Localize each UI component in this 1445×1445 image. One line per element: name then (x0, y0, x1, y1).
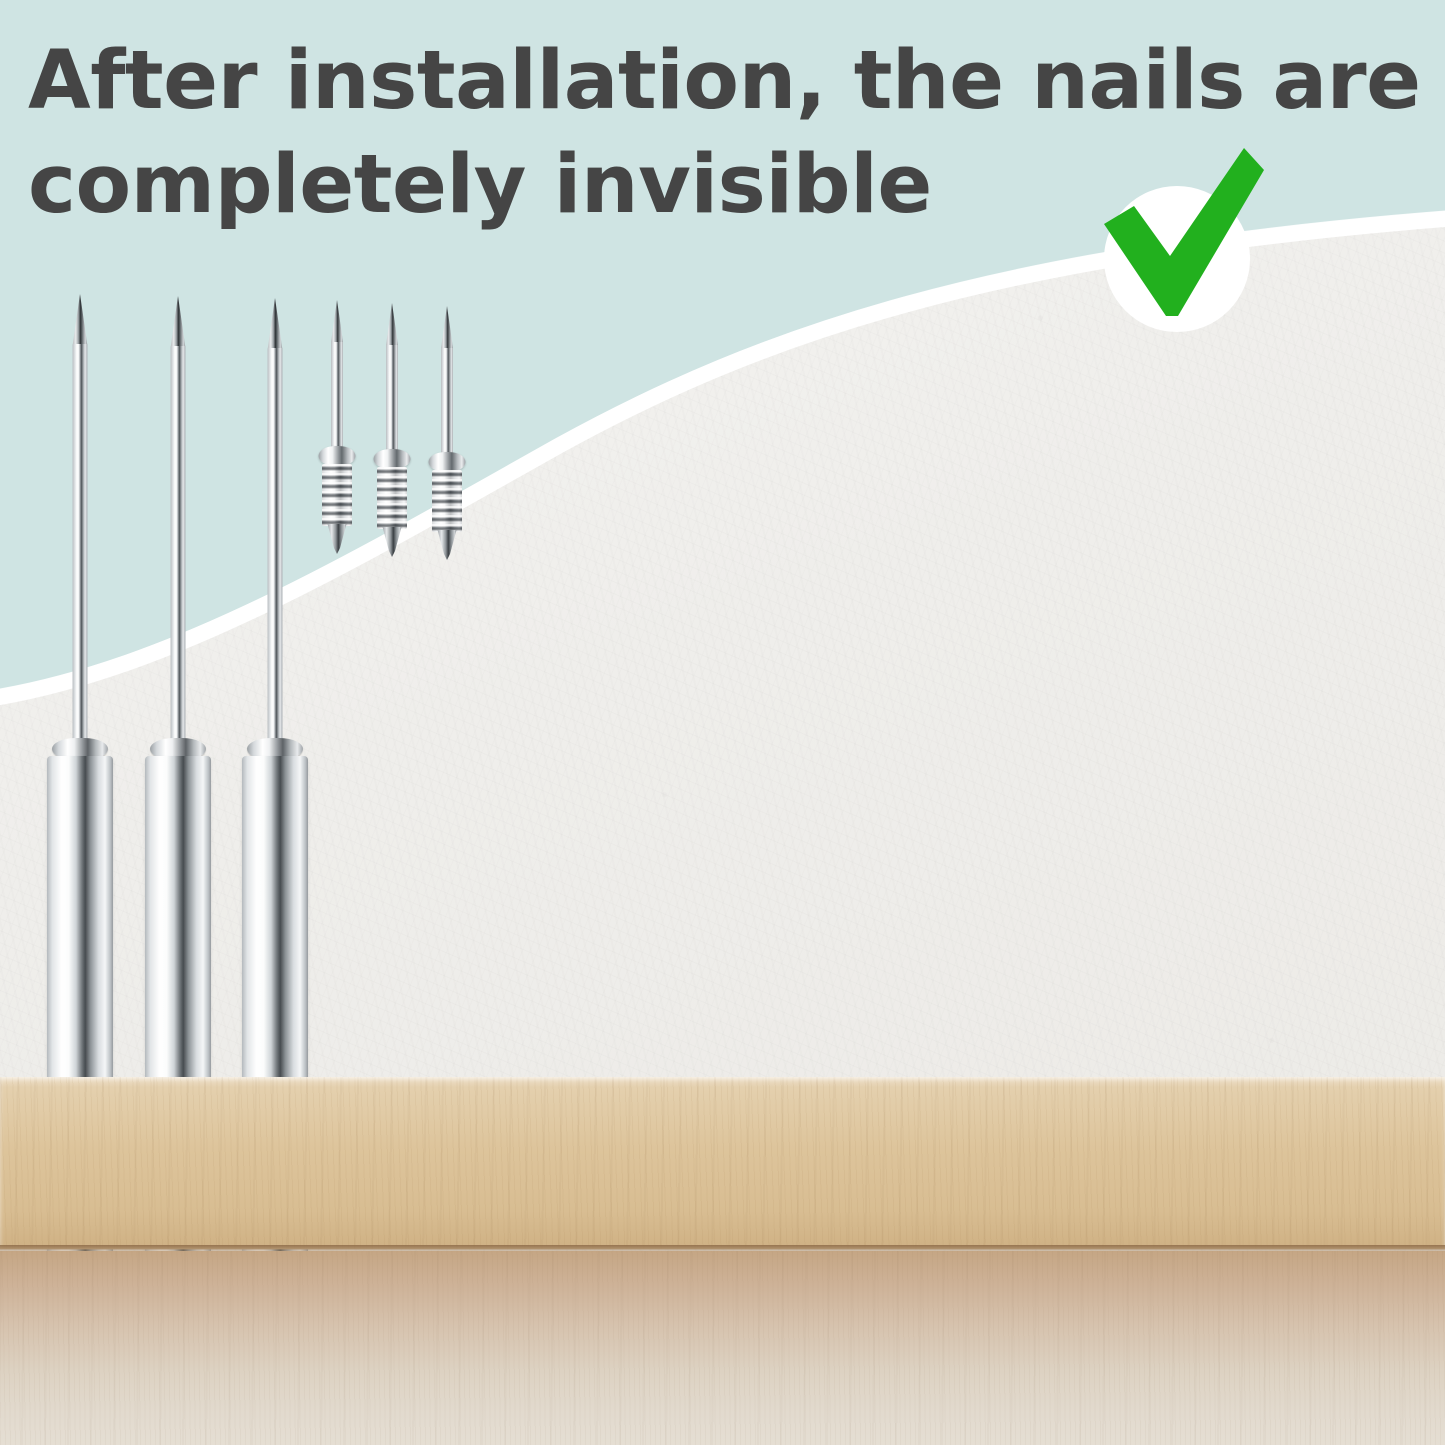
small-screw-2 (373, 303, 410, 555)
oak-baseboard (0, 1077, 1445, 1249)
screw-flange-collar (428, 452, 465, 472)
small-screw-3 (428, 306, 465, 558)
screw-bottom-point-icon (327, 524, 346, 554)
screw-flange-collar (373, 449, 410, 469)
screw-threaded-body (377, 467, 407, 529)
screw-pin-shaft (331, 342, 343, 452)
screw-pin-shaft (386, 345, 398, 455)
large-nail-3 (242, 298, 308, 1034)
screw-bottom-point-icon (437, 530, 456, 560)
small-screw-1 (318, 300, 355, 552)
product-banner: After installation, the nails are comple… (0, 0, 1445, 1445)
large-nail-1 (47, 294, 113, 1034)
screw-tip-icon (386, 303, 398, 351)
nail-pin-shaft (73, 344, 88, 744)
large-nail-2 (145, 296, 211, 1034)
screw-flange-collar (318, 446, 355, 466)
nail-pin-shaft (268, 348, 283, 744)
nail-pin-shaft (171, 346, 186, 744)
screw-bottom-point-icon (382, 527, 401, 557)
page-title: After installation, the nails are comple… (28, 30, 1428, 237)
screw-threaded-body (432, 470, 462, 532)
screw-threaded-body (322, 464, 352, 526)
screw-tip-icon (441, 306, 453, 354)
screw-tip-icon (331, 300, 343, 348)
screw-pin-shaft (441, 348, 453, 458)
light-wood-floor (0, 1251, 1445, 1445)
